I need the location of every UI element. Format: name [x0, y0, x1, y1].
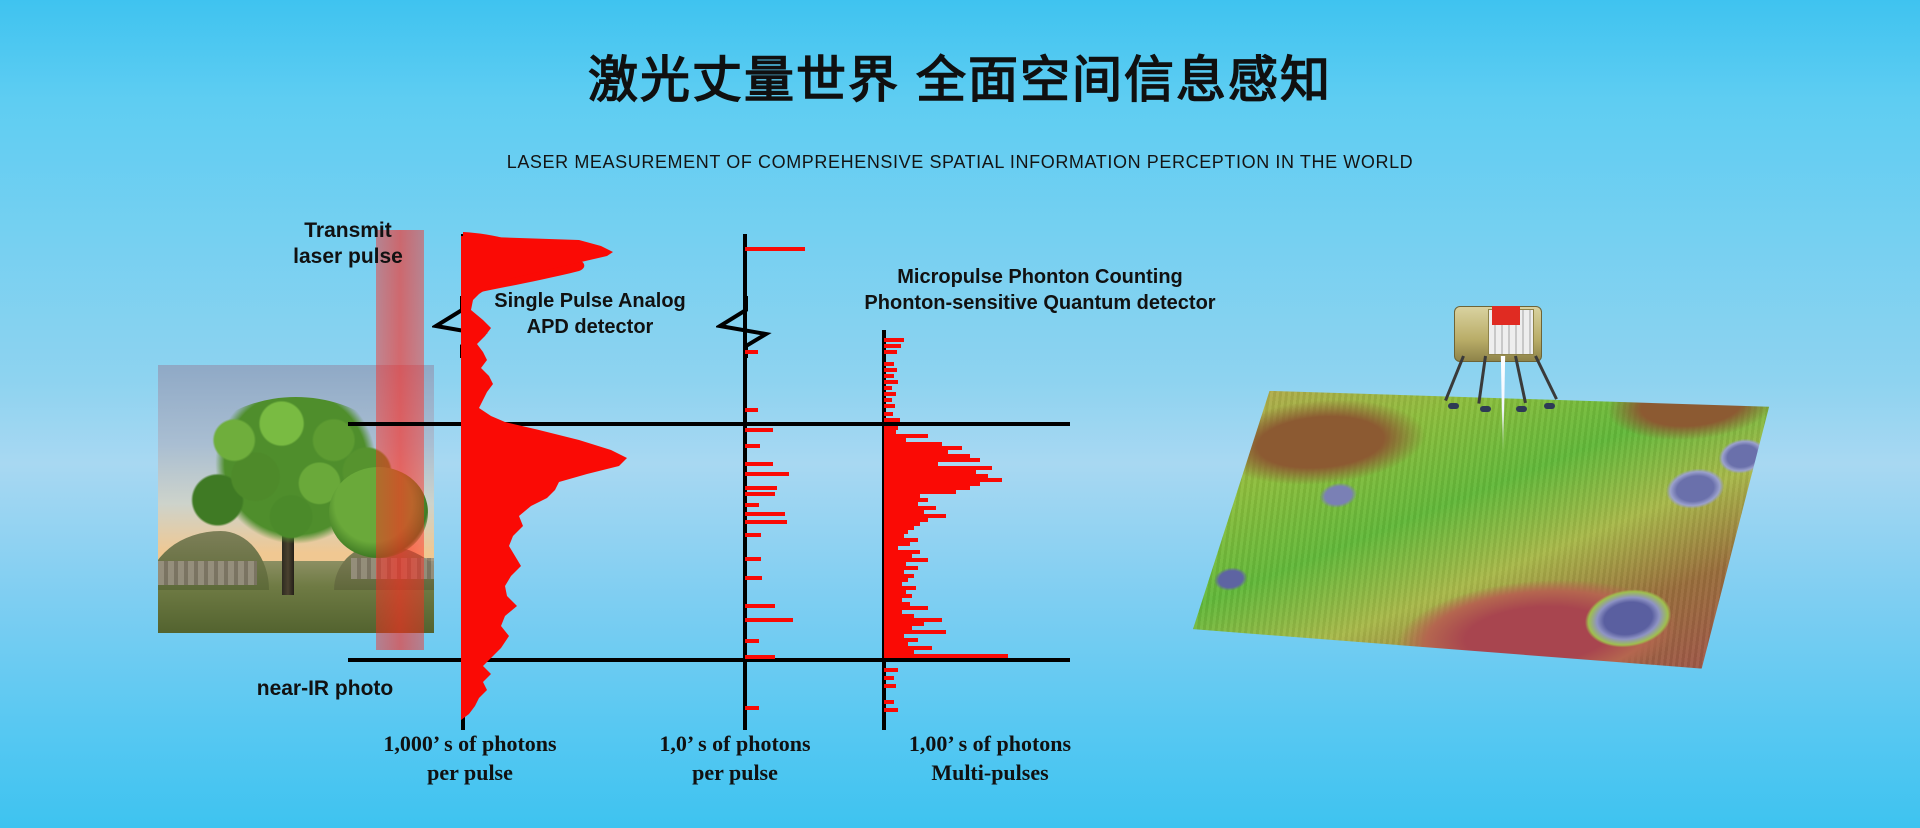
panel1-label-line2: APD detector	[470, 314, 710, 340]
lander-pad-1	[1448, 403, 1459, 409]
lander-pad-4	[1544, 403, 1555, 409]
page-root: { "header": { "title_cn": "激光丈量世界 全面空间信息…	[0, 0, 1920, 828]
lunar-lander-terrain-illustration	[1200, 300, 1840, 730]
caption-panel1-line1: 1,000’ s of photons	[350, 730, 590, 759]
panel1-detector-label: Single Pulse Analog APD detector	[470, 288, 710, 340]
lander-leg-1	[1444, 355, 1465, 401]
lander-leg-4	[1534, 355, 1558, 399]
lidar-waveform-diagram: Transmit laser pulse near-IR photo Singl…	[0, 0, 1150, 828]
china-flag-icon	[1492, 306, 1520, 325]
lunar-lander	[1436, 300, 1556, 420]
transmit-label-line1: Transmit	[248, 218, 448, 244]
caption-panel2-line2: per pulse	[625, 759, 845, 788]
caption-panel1: 1,000’ s of photons per pulse	[350, 730, 590, 787]
caption-panel1-line2: per pulse	[350, 759, 590, 788]
panel3-label-line1: Micropulse Phonton Counting	[810, 264, 1270, 290]
caption-panel2: 1,0’ s of photons per pulse	[625, 730, 845, 787]
near-ir-photo-caption: near-IR photo	[205, 676, 445, 702]
caption-panel3-line2: Multi-pulses	[870, 759, 1110, 788]
photo-stone-wall-left	[158, 561, 257, 585]
laser-beam-band	[376, 230, 424, 650]
lander-pad-2	[1480, 406, 1491, 412]
caption-panel3-line1: 1,00’ s of photons	[870, 730, 1110, 759]
transmit-laser-pulse-label: Transmit laser pulse	[248, 218, 448, 271]
lander-leg-2	[1477, 356, 1487, 404]
lander-pad-3	[1516, 406, 1527, 412]
panel1-label-line1: Single Pulse Analog	[470, 288, 710, 314]
transmit-label-line2: laser pulse	[248, 244, 448, 270]
caption-panel2-line1: 1,0’ s of photons	[625, 730, 845, 759]
lander-leg-3	[1514, 356, 1527, 404]
caption-panel3: 1,00’ s of photons Multi-pulses	[870, 730, 1110, 787]
